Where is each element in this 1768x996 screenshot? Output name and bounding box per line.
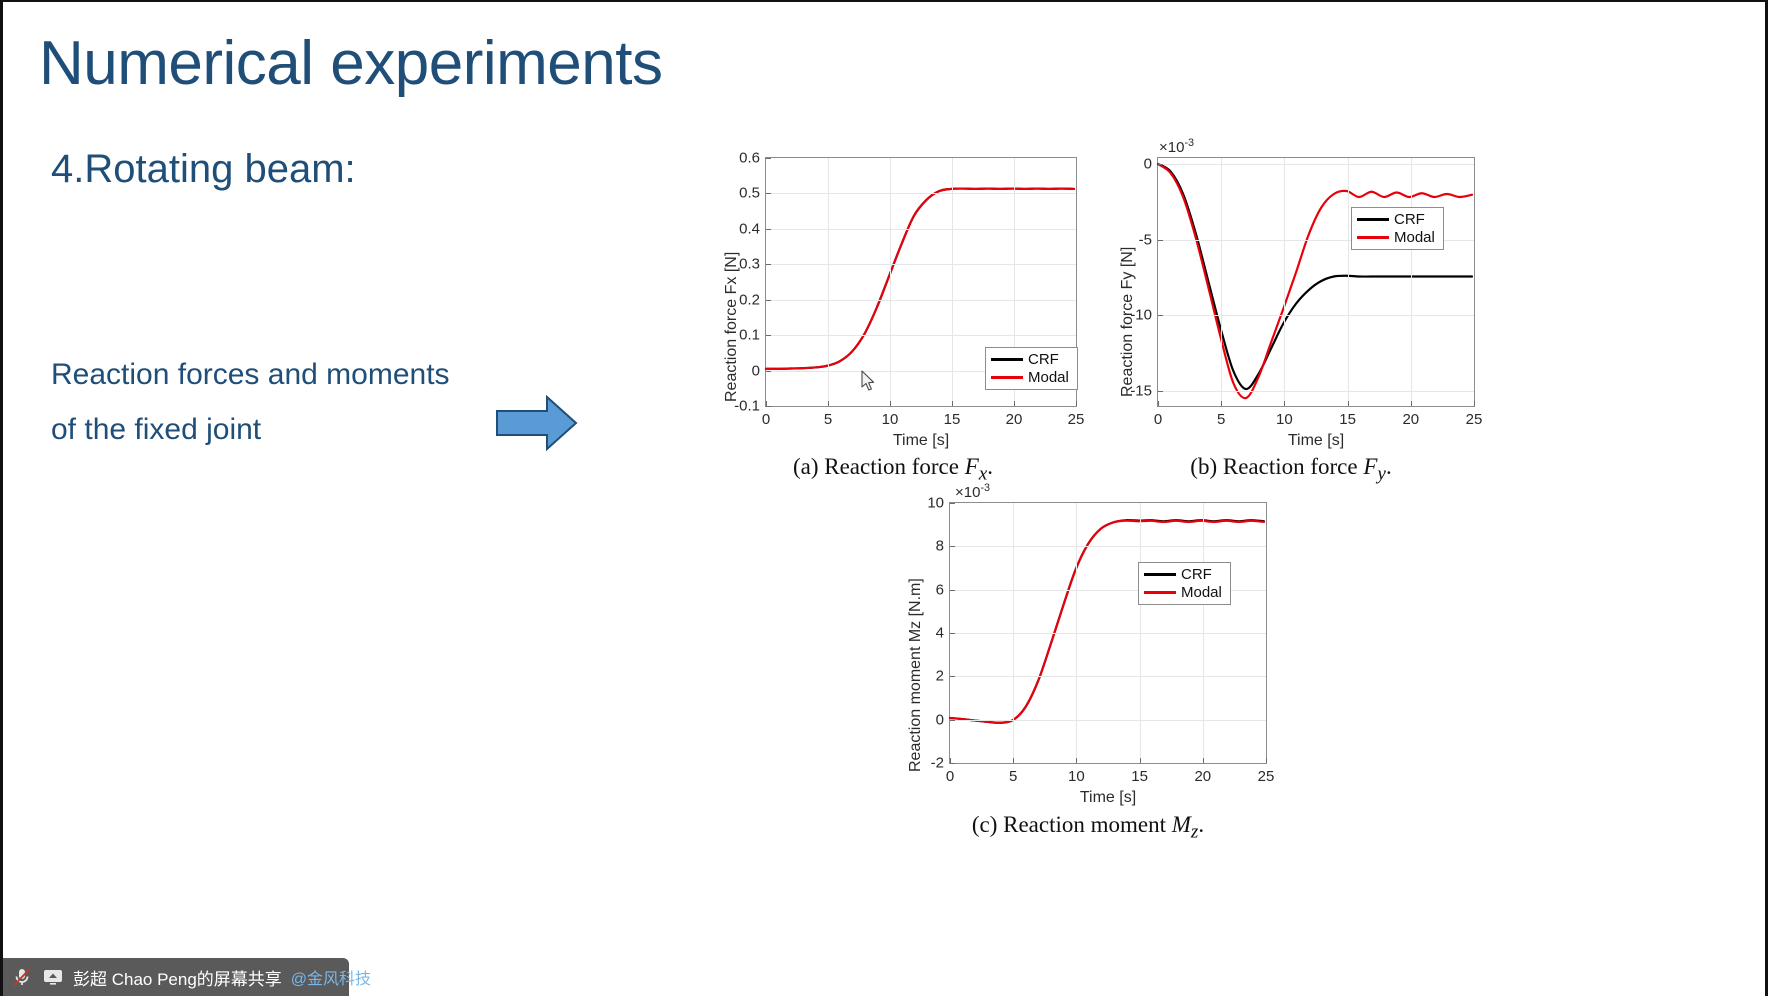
- gridline-horizontal: [766, 300, 1076, 301]
- y-tickmark: [950, 676, 955, 677]
- x-tick-label: 5: [1009, 763, 1017, 785]
- x-tick-label: 25: [1068, 406, 1085, 428]
- microphone-muted-icon[interactable]: [11, 966, 33, 988]
- y-tickmark: [766, 158, 771, 159]
- y-tick-label: 0: [752, 362, 766, 379]
- y-tickmark: [766, 229, 771, 230]
- chart-a-legend: CRF Modal: [985, 347, 1078, 390]
- caption-c-period: .: [1198, 812, 1204, 837]
- gridline-horizontal: [1158, 391, 1474, 392]
- legend-entry-crf: CRF: [1144, 567, 1222, 582]
- caption-b-subscript: y: [1377, 464, 1386, 485]
- chart-b-legend: CRF Modal: [1351, 207, 1444, 250]
- y-tickmark: [1158, 315, 1163, 316]
- y-tick-label: 0.3: [739, 256, 766, 273]
- legend-swatch-crf: [1144, 573, 1176, 576]
- y-tickmark: [950, 590, 955, 591]
- screen-share-owner-label: 彭超 Chao Peng的屏幕共享: [73, 965, 282, 990]
- chart-c-xlabel: Time [s]: [949, 789, 1267, 807]
- figure-a: Reaction force Fx [N] -0.100.10.20.30.40…: [703, 132, 1083, 462]
- y-tick-label: 0.4: [739, 220, 766, 237]
- legend-entry-crf: CRF: [991, 352, 1069, 367]
- series-line-modal: [950, 521, 1264, 723]
- chart-c-legend: CRF Modal: [1138, 562, 1231, 605]
- chart-b-exponent-label: ×10-3: [1159, 137, 1194, 156]
- series-line-modal: [766, 189, 1074, 369]
- legend-label-modal: Modal: [1181, 585, 1222, 600]
- x-tick-label: 0: [1154, 406, 1162, 428]
- page-title: Numerical experiments: [39, 28, 663, 99]
- figure-c-caption: (c) Reaction moment Mz.: [893, 812, 1283, 844]
- y-tick-label: 0: [1144, 156, 1158, 173]
- x-tick-label: 20: [1402, 406, 1419, 428]
- x-tick-label: 20: [1006, 406, 1023, 428]
- y-tickmark: [950, 633, 955, 634]
- gridline-vertical: [1140, 503, 1141, 763]
- y-tickmark: [766, 300, 771, 301]
- y-tickmark: [950, 720, 955, 721]
- screen-share-org-handle: @金风科技: [291, 965, 371, 989]
- caption-a-symbol: F: [965, 454, 979, 479]
- x-tick-label: 15: [1131, 763, 1148, 785]
- x-tick-label: 0: [762, 406, 770, 428]
- legend-label-crf: CRF: [1181, 567, 1212, 582]
- screen-share-taskbar[interactable]: 彭超 Chao Peng的屏幕共享 @金风科技: [3, 958, 349, 996]
- series-line-crf: [950, 520, 1264, 723]
- y-tickmark: [1158, 391, 1163, 392]
- chart-c-exponent-label: ×10-3: [955, 482, 990, 501]
- screen-share-icon[interactable]: [42, 966, 64, 988]
- figure-panel: Reaction force Fx [N] -0.100.10.20.30.40…: [703, 132, 1493, 922]
- x-tick-label: 15: [1339, 406, 1356, 428]
- legend-swatch-crf: [991, 358, 1023, 361]
- legend-swatch-modal: [1357, 236, 1389, 239]
- caption-b-symbol: F: [1363, 454, 1377, 479]
- gridline-vertical: [1284, 158, 1285, 406]
- presentation-slide: Numerical experiments 4.Rotating beam: R…: [0, 0, 1768, 996]
- y-tick-label: -5: [1139, 231, 1158, 248]
- x-tick-label: 20: [1194, 763, 1211, 785]
- legend-swatch-crf: [1357, 218, 1389, 221]
- gridline-horizontal: [1158, 315, 1474, 316]
- chart-b-xlabel: Time [s]: [1157, 432, 1475, 450]
- gridline-vertical: [828, 158, 829, 406]
- y-tickmark: [766, 371, 771, 372]
- caption-c-text: (c) Reaction moment: [972, 812, 1172, 837]
- y-tickmark: [950, 503, 955, 504]
- legend-label-crf: CRF: [1028, 352, 1059, 367]
- x-tick-label: 5: [824, 406, 832, 428]
- gridline-vertical: [1411, 158, 1412, 406]
- x-tick-label: 0: [946, 763, 954, 785]
- y-tick-label: 0.1: [739, 327, 766, 344]
- y-tickmark: [766, 193, 771, 194]
- slide-subtitle: 4.Rotating beam:: [51, 147, 356, 192]
- legend-label-modal: Modal: [1394, 230, 1435, 245]
- y-tick-label: 8: [936, 538, 950, 555]
- chart-b-exp-sup: -3: [1184, 137, 1194, 149]
- gridline-horizontal: [766, 335, 1076, 336]
- legend-label-modal: Modal: [1028, 370, 1069, 385]
- x-tick-label: 15: [944, 406, 961, 428]
- figure-c: Reaction moment Mz [N.m] ×10-3 -20246810…: [893, 477, 1283, 822]
- gridline-horizontal: [766, 193, 1076, 194]
- gridline-horizontal: [950, 633, 1266, 634]
- y-tick-label: 0.2: [739, 291, 766, 308]
- gridline-horizontal: [950, 546, 1266, 547]
- y-tickmark: [950, 546, 955, 547]
- caption-c-symbol: M: [1172, 812, 1191, 837]
- gridline-horizontal: [1158, 164, 1474, 165]
- x-tick-label: 10: [1068, 763, 1085, 785]
- gridline-horizontal: [950, 676, 1266, 677]
- y-tick-label: 10: [927, 495, 950, 512]
- x-tick-label: 25: [1466, 406, 1483, 428]
- y-tick-label: 2: [936, 668, 950, 685]
- y-tick-label: -10: [1130, 307, 1158, 324]
- legend-swatch-modal: [1144, 591, 1176, 594]
- mouse-pointer: [861, 370, 877, 392]
- y-tickmark: [766, 264, 771, 265]
- chart-b-plot-area: 0-5-10-150510152025: [1157, 157, 1475, 407]
- gridline-vertical: [1348, 158, 1349, 406]
- gridline-vertical: [1013, 503, 1014, 763]
- gridline-horizontal: [766, 264, 1076, 265]
- body-text-line-2: of the fixed joint: [51, 413, 261, 447]
- chart-a-xlabel: Time [s]: [765, 432, 1077, 450]
- right-arrow-icon: [495, 394, 579, 452]
- gridline-horizontal: [950, 720, 1266, 721]
- y-tick-label: 4: [936, 625, 950, 642]
- gridline-vertical: [1221, 158, 1222, 406]
- body-text-line-1: Reaction forces and moments: [51, 358, 450, 392]
- x-tick-label: 5: [1217, 406, 1225, 428]
- chart-b-curves: [1158, 158, 1474, 406]
- y-tick-label: 0.6: [739, 150, 766, 167]
- chart-c-ylabel: Reaction moment Mz [N.m]: [907, 578, 925, 772]
- x-tick-label: 25: [1258, 763, 1275, 785]
- series-line-crf: [766, 189, 1074, 369]
- legend-label-crf: CRF: [1394, 212, 1425, 227]
- y-tick-label: 0.5: [739, 185, 766, 202]
- chart-b-exp-base: ×10: [1159, 139, 1184, 156]
- y-tickmark: [1158, 164, 1163, 165]
- y-tickmark: [766, 335, 771, 336]
- x-tick-label: 10: [1276, 406, 1293, 428]
- gridline-vertical: [1076, 503, 1077, 763]
- caption-a-period: .: [987, 454, 993, 479]
- caption-a-text: (a) Reaction force: [793, 454, 965, 479]
- y-tick-label: 6: [936, 581, 950, 598]
- gridline-vertical: [952, 158, 953, 406]
- y-tickmark: [1158, 240, 1163, 241]
- chart-c-exp-sup: -3: [980, 482, 990, 494]
- y-tick-label: 0: [936, 711, 950, 728]
- caption-b-text: (b) Reaction force: [1190, 454, 1363, 479]
- legend-swatch-modal: [991, 376, 1023, 379]
- legend-entry-modal: Modal: [991, 370, 1069, 385]
- y-tick-label: -15: [1130, 382, 1158, 399]
- legend-entry-modal: Modal: [1144, 585, 1222, 600]
- chart-c-plot-area: -202468100510152025: [949, 502, 1267, 764]
- legend-entry-modal: Modal: [1357, 230, 1435, 245]
- gridline-vertical: [1203, 503, 1204, 763]
- chart-c-exp-base: ×10: [955, 484, 980, 501]
- gridline-horizontal: [766, 229, 1076, 230]
- legend-entry-crf: CRF: [1357, 212, 1435, 227]
- gridline-vertical: [890, 158, 891, 406]
- caption-b-period: .: [1386, 454, 1392, 479]
- x-tick-label: 10: [882, 406, 899, 428]
- series-line-modal: [1158, 164, 1472, 398]
- figure-b: Reaction force Fy [N] ×10-3 0-5-10-15051…: [1101, 132, 1481, 462]
